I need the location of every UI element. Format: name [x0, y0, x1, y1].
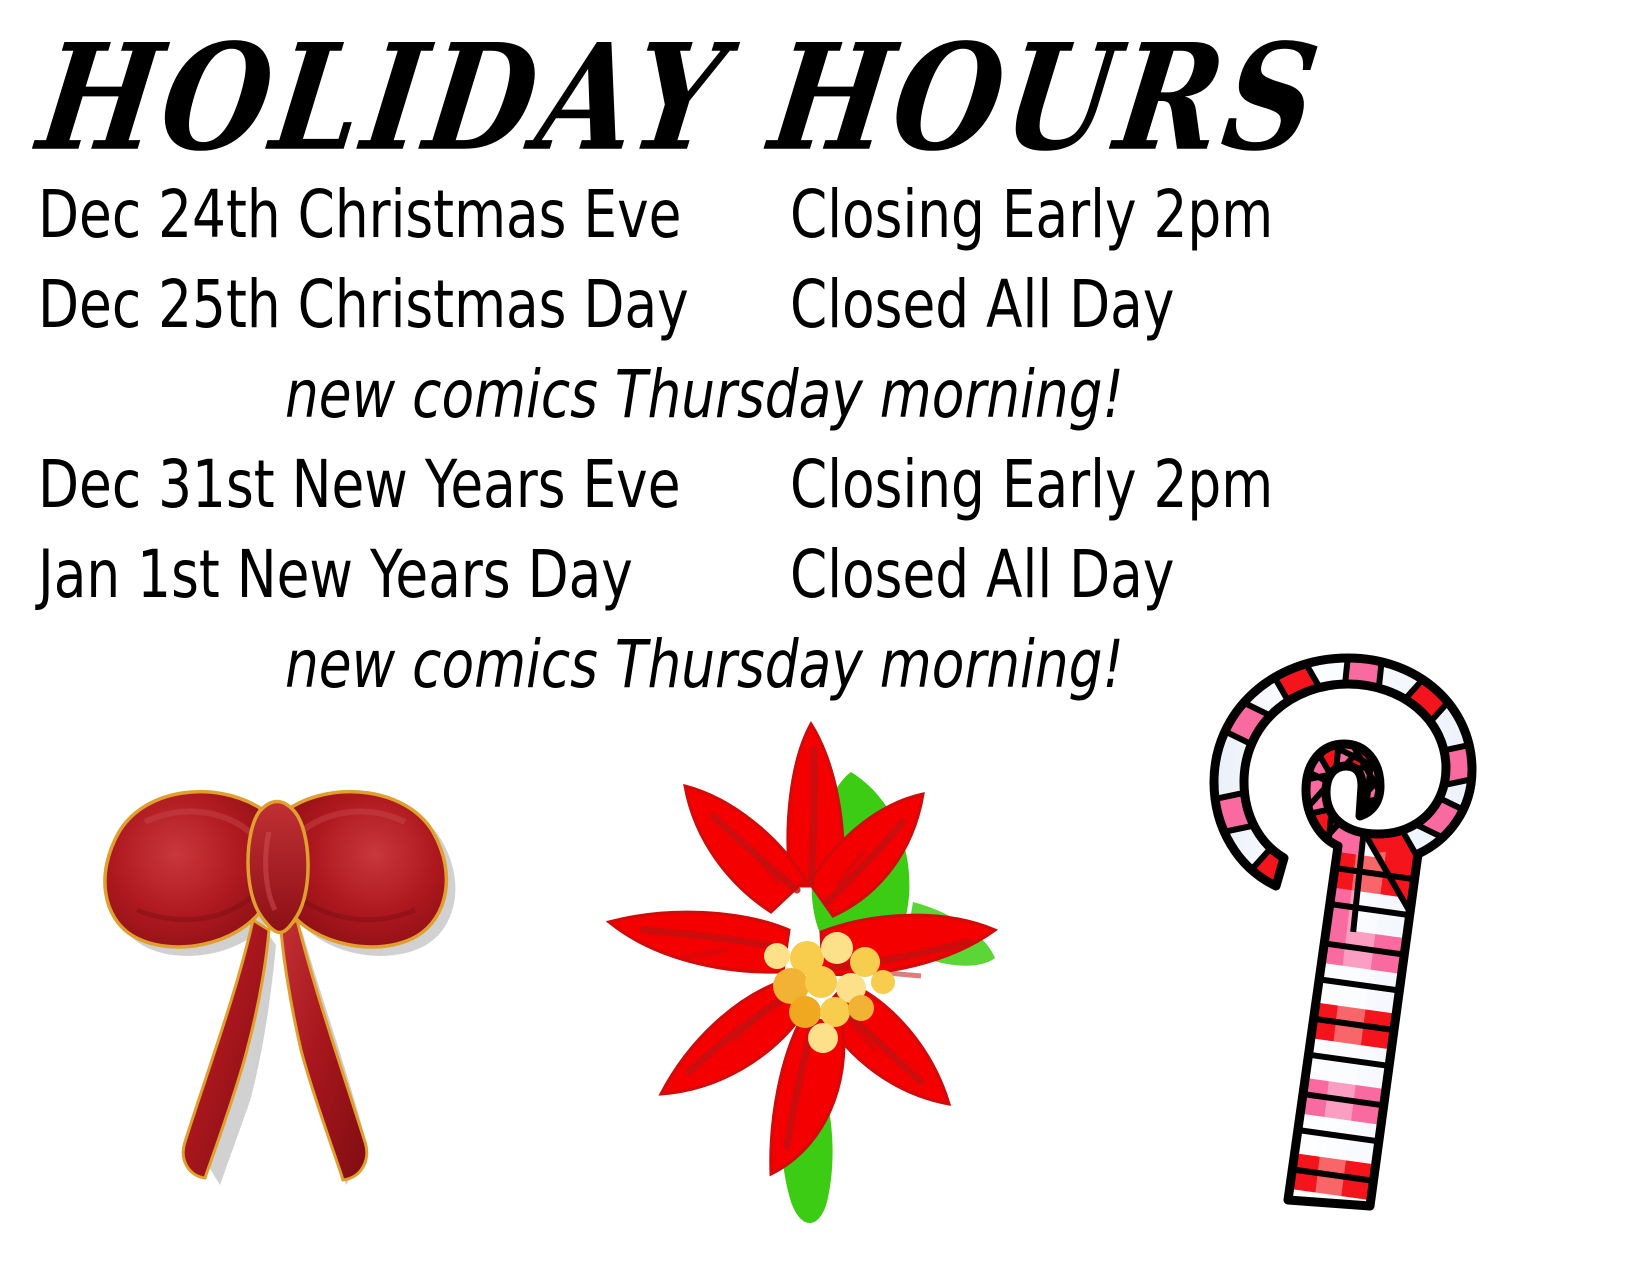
bow-right-loop [287, 792, 446, 947]
hours-row-label: Dec 31st New Years Eve [38, 452, 681, 518]
candy-cane-icon [1180, 640, 1510, 1230]
hours-row-label: Jan 1st New Years Day [38, 542, 633, 608]
bow-knot [248, 802, 308, 933]
hours-row-value: Closed All Day [790, 272, 1174, 338]
hours-row-value: Closed All Day [790, 542, 1174, 608]
hours-row: Dec 25th Christmas Day Closed All Day [0, 272, 1650, 362]
bow-right-tail [281, 920, 367, 1180]
poinsettia-flower-icon [565, 690, 1035, 1230]
holiday-hours-poster: HOLIDAY HOURS Dec 24th Christmas Eve Clo… [0, 0, 1650, 1275]
bow-left-loop [105, 792, 263, 947]
red-ribbon-bow-icon [85, 740, 465, 1210]
page-title: HOLIDAY HOURS [31, 26, 1329, 172]
hours-row-value: Closing Early 2pm [790, 182, 1273, 248]
hours-row-value: Closing Early 2pm [790, 452, 1273, 518]
hours-row: Dec 24th Christmas Eve Closing Early 2pm [0, 182, 1650, 272]
decorations-row [0, 600, 1650, 1275]
new-comics-note-text: new comics Thursday morning! [285, 362, 1124, 428]
hours-row-label: Dec 24th Christmas Eve [38, 182, 681, 248]
hours-row-label: Dec 25th Christmas Day [38, 272, 689, 338]
hours-row: Dec 31st New Years Eve Closing Early 2pm [0, 452, 1650, 542]
new-comics-note: new comics Thursday morning! [0, 362, 1650, 452]
